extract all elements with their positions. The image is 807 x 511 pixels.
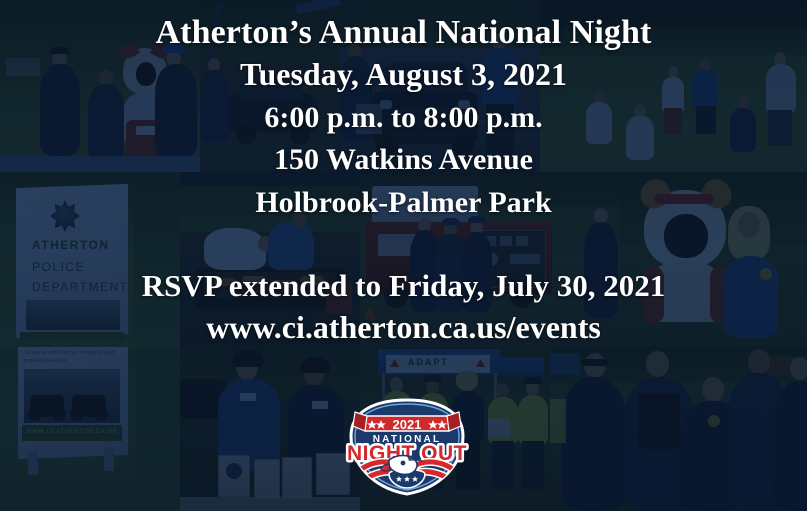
collage-tile-info-table bbox=[180, 347, 360, 511]
national-night-out-logo: 2021 NATIONAL NIGHT OUT NIGHT OUT bbox=[345, 398, 469, 496]
collage-tile-fox-mascot bbox=[620, 172, 807, 347]
collage-tile-officers-and-mascot bbox=[0, 0, 200, 172]
collage-tile-fire-truck bbox=[360, 172, 620, 347]
collage-tile-apd-banner: ATHERTON POLICE DEPARTMENT bbox=[0, 172, 180, 347]
apd-banner-agency-line3: DEPARTMENT bbox=[32, 280, 129, 294]
collage-tile-car-show bbox=[200, 0, 340, 172]
apd-banner-motto: To serve with honor, integrity and profe… bbox=[24, 349, 124, 366]
logo-year: 2021 bbox=[393, 417, 422, 432]
apd-banner-website: WWW.CI.ATHERTON.CA.US bbox=[26, 429, 117, 435]
adapt-tent-label: ADAPT bbox=[408, 357, 449, 367]
flyer-canvas: ATHERTON POLICE DEPARTMENT bbox=[0, 0, 807, 511]
apd-banner-agency-line2: POLICE bbox=[32, 260, 85, 274]
collage-tile-motorcycle-banner: To serve with honor, integrity and profe… bbox=[0, 347, 180, 511]
collage-tile-kids-on-field bbox=[540, 0, 807, 172]
apd-banner-agency-line1: ATHERTON bbox=[32, 238, 110, 252]
collage-tile-classic-car bbox=[340, 0, 540, 172]
collage-tile-bbq bbox=[180, 172, 360, 347]
collage-tile-officers-group bbox=[550, 347, 807, 511]
